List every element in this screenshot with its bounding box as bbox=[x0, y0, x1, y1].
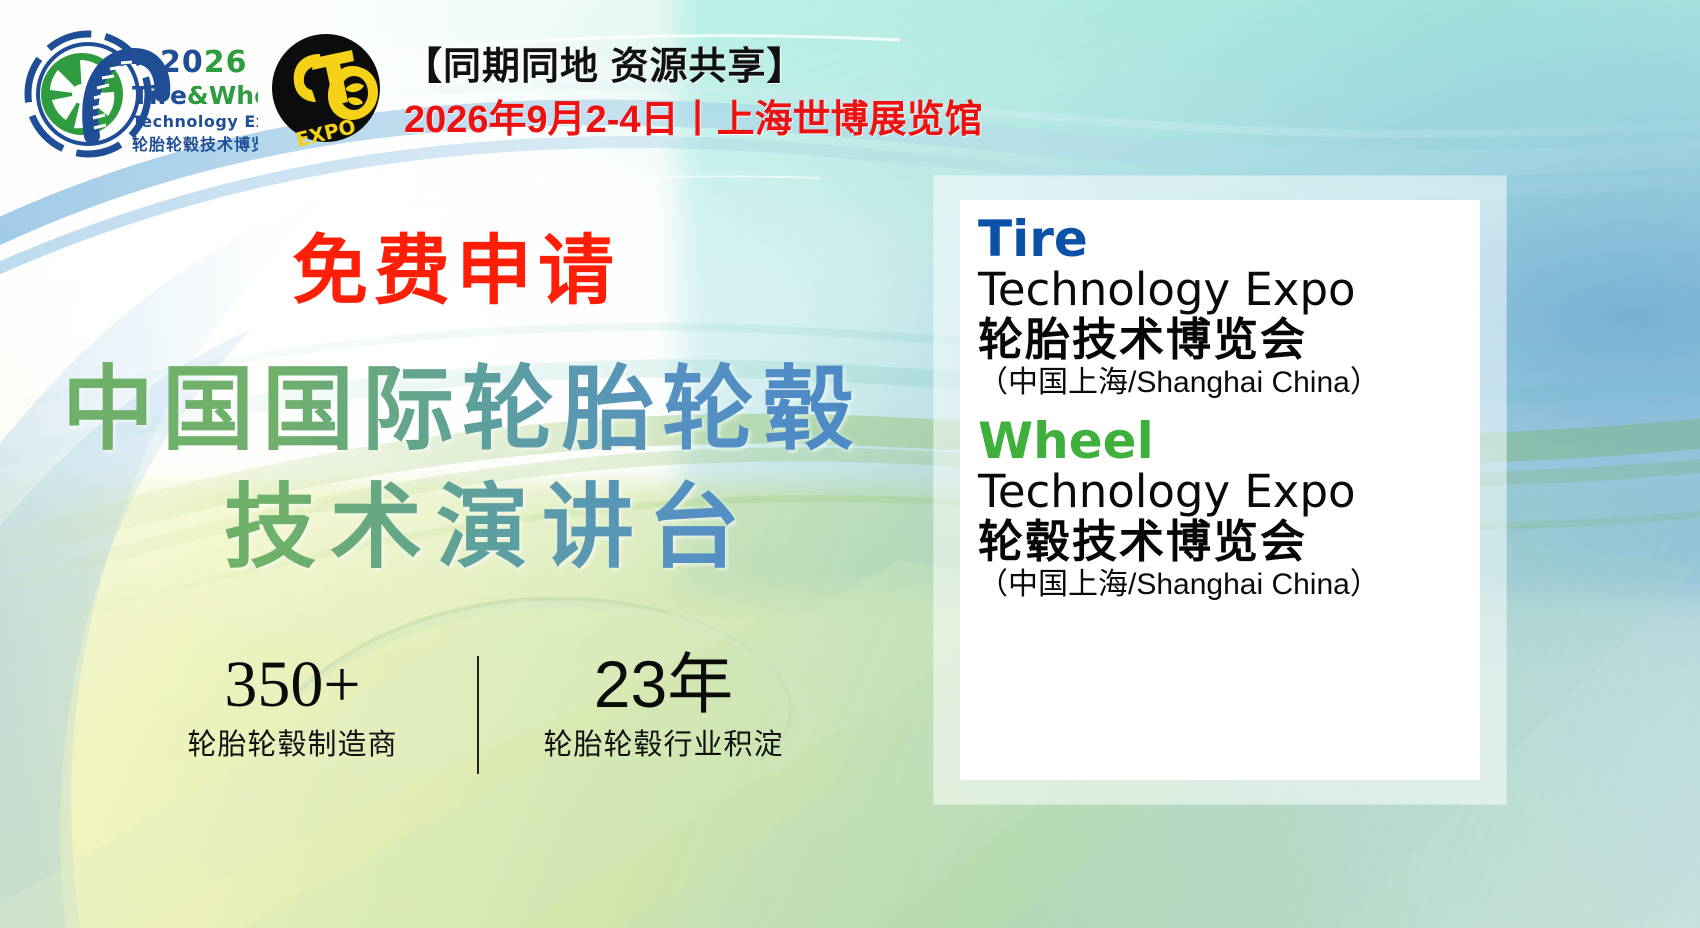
header-date-venue: 2026年9月2-4日丨上海世博展览馆 bbox=[404, 98, 983, 144]
tire-expo-block: Tire Technology Expo 轮胎技术博览会 （中国上海/Shang… bbox=[978, 214, 1464, 400]
poster-canvas: 2026 Tire&Wheel Technology Expo 轮胎轮毂技术博览… bbox=[0, 0, 1700, 928]
stat-value: 23年 bbox=[479, 650, 848, 719]
wheel-expo-chinese: 轮毂技术博览会 bbox=[978, 517, 1464, 567]
expo-card: Tire Technology Expo 轮胎技术博览会 （中国上海/Shang… bbox=[960, 200, 1480, 780]
headline-block: 中国国际轮胎轮毂 技术演讲台 bbox=[62, 352, 892, 588]
headline-line-2: 技术演讲台 bbox=[62, 470, 892, 588]
stat-label: 轮胎轮毂制造商 bbox=[108, 721, 477, 763]
wheel-expo-location: （中国上海/Shanghai China） bbox=[978, 567, 1464, 602]
poster-header: 2026 Tire&Wheel Technology Expo 轮胎轮毂技术博览… bbox=[0, 0, 1700, 176]
header-slogan: 【同期同地 资源共享】 bbox=[404, 44, 983, 92]
stat-item: 23年 轮胎轮毂行业积淀 bbox=[479, 650, 848, 763]
stat-value: 350+ bbox=[108, 650, 477, 719]
tire-expo-english: Technology Expo bbox=[978, 265, 1464, 315]
svg-text:Tire&Wheel: Tire&Wheel bbox=[132, 81, 258, 110]
headline-line-1: 中国国际轮胎轮毂 bbox=[62, 352, 892, 470]
ct-expo-logo: EXPO bbox=[268, 32, 384, 148]
wheel-expo-english: Technology Expo bbox=[978, 467, 1464, 517]
wheel-expo-block: Wheel Technology Expo 轮毂技术博览会 （中国上海/Shan… bbox=[978, 416, 1464, 602]
stat-label: 轮胎轮毂行业积淀 bbox=[479, 721, 848, 763]
tire-wheel-expo-logo: 2026 Tire&Wheel Technology Expo 轮胎轮毂技术博览… bbox=[22, 24, 258, 164]
svg-text:2026: 2026 bbox=[160, 45, 248, 80]
wheel-brand-title: Wheel bbox=[978, 416, 1464, 467]
tire-expo-location: （中国上海/Shanghai China） bbox=[978, 365, 1464, 400]
header-text-block: 【同期同地 资源共享】 2026年9月2-4日丨上海世博展览馆 bbox=[404, 44, 983, 143]
stat-item: 350+ 轮胎轮毂制造商 bbox=[108, 650, 477, 763]
kicker-free-apply: 免费申请 bbox=[292, 234, 620, 310]
svg-text:轮胎轮毂技术博览会: 轮胎轮毂技术博览会 bbox=[132, 135, 258, 154]
tire-brand-title: Tire bbox=[978, 214, 1464, 265]
svg-text:Technology Expo: Technology Expo bbox=[132, 112, 258, 131]
tire-expo-chinese: 轮胎技术博览会 bbox=[978, 315, 1464, 365]
main-content: 免费申请 中国国际轮胎轮毂 技术演讲台 350+ 轮胎轮毂制造商 23年 轮胎轮… bbox=[0, 170, 940, 928]
stats-row: 350+ 轮胎轮毂制造商 23年 轮胎轮毂行业积淀 bbox=[108, 650, 848, 774]
